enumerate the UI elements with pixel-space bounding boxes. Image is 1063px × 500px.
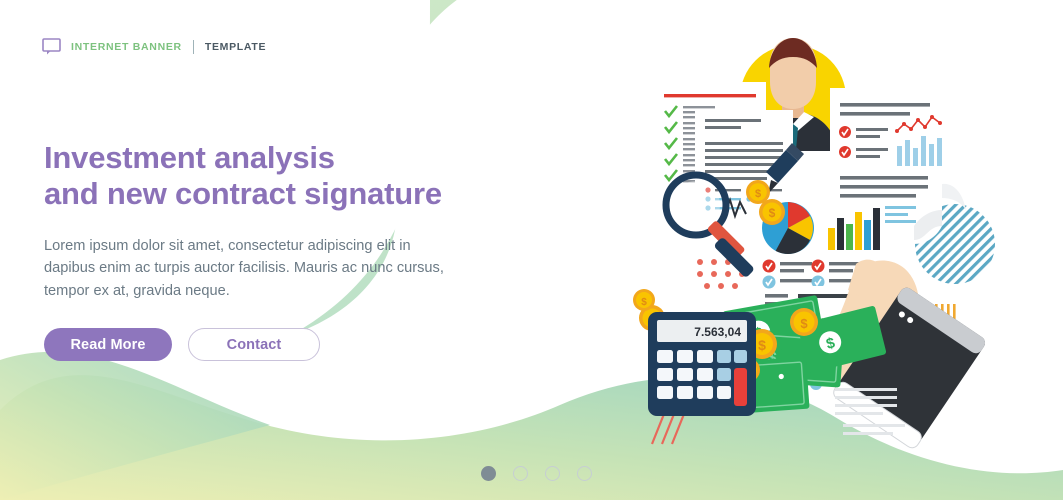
svg-text:$: $ <box>800 316 808 331</box>
investment-analysis-illustration: $ $ $ $ <box>560 0 1063 500</box>
svg-text:$: $ <box>769 206 776 220</box>
calculator-enter-key <box>734 368 747 406</box>
speech-bubble-icon <box>42 38 62 55</box>
carousel-pagination[interactable] <box>481 466 592 481</box>
headline-line-2: and new contract signature <box>44 176 514 212</box>
page-title: Investment analysis and new contract sig… <box>44 140 514 213</box>
svg-text:$: $ <box>758 337 766 353</box>
hero-banner: $ $ $ $ <box>0 0 1063 500</box>
headline-line-1: Investment analysis <box>44 140 335 175</box>
read-more-button[interactable]: Read More <box>44 328 172 361</box>
cta-button-row: Read More Contact <box>44 328 514 361</box>
pagination-dot-2[interactable] <box>513 466 528 481</box>
pagination-dot-4[interactable] <box>577 466 592 481</box>
svg-text:$: $ <box>755 188 761 200</box>
brand-logo[interactable]: INTERNET BANNER TEMPLATE <box>42 38 266 55</box>
pagination-dot-3[interactable] <box>545 466 560 481</box>
brand-subtitle: TEMPLATE <box>205 41 266 53</box>
document-header-rule <box>664 94 756 97</box>
hero-paragraph: Lorem ipsum dolor sit amet, consectetur … <box>44 235 444 303</box>
brand-name: INTERNET BANNER <box>71 41 182 53</box>
calculator: 7.563,04 <box>648 312 756 416</box>
svg-text:$: $ <box>641 297 647 308</box>
brand-separator <box>193 40 194 54</box>
contact-button[interactable]: Contact <box>188 328 320 361</box>
pagination-dot-1[interactable] <box>481 466 496 481</box>
hero-copy-block: Investment analysis and new contract sig… <box>44 140 514 361</box>
calculator-display-value: 7.563,04 <box>694 325 741 339</box>
